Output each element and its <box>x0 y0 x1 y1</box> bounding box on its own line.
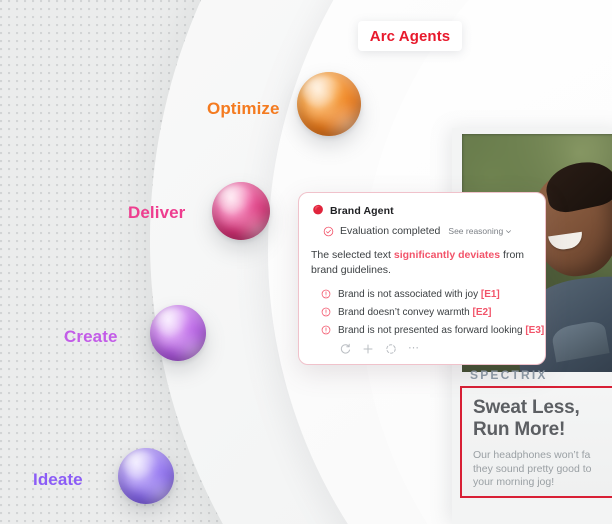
chevron-down-icon <box>505 228 512 235</box>
ad-body-line-2: they sound pretty good to <box>473 463 612 476</box>
warning-circle-icon <box>321 289 331 299</box>
more-options-icon[interactable]: ⋯ <box>408 343 420 354</box>
stage-label-create: Create <box>64 327 118 347</box>
card-header: Brand Agent <box>311 204 533 217</box>
issue-list: Brand is not associated with joy [E1] Br… <box>311 289 533 336</box>
ad-headline-line-1: Sweat Less, <box>473 397 612 419</box>
evaluation-status-text: Evaluation completed <box>340 225 440 237</box>
stage-orb-ideate[interactable] <box>118 448 174 504</box>
card-action-bar: ⋯ <box>339 343 533 355</box>
issue-text: Brand is not presented as forward lookin… <box>338 325 544 336</box>
stage-label-deliver: Deliver <box>128 203 185 223</box>
issue-label: Brand is not presented as forward lookin… <box>338 325 523 336</box>
orb-rim <box>212 182 270 240</box>
desc-highlight: significantly deviates <box>394 249 500 261</box>
see-reasoning-label: See reasoning <box>448 226 503 236</box>
orb-rim <box>118 448 174 504</box>
refresh-icon[interactable] <box>339 343 351 355</box>
ad-creative-box: Sweat Less, Run More! Our headphones won… <box>460 386 612 498</box>
orb-rim <box>297 72 361 136</box>
ad-headline-line-2: Run More! <box>473 419 612 441</box>
issue-row[interactable]: Brand is not presented as forward lookin… <box>321 325 533 336</box>
plus-icon[interactable] <box>362 343 374 355</box>
card-title: Brand Agent <box>330 205 394 217</box>
check-circle-icon <box>323 226 334 237</box>
arc-agents-button[interactable]: Arc Agents <box>358 21 462 51</box>
issue-text: Brand doesn’t convey warmth [E2] <box>338 307 491 318</box>
ad-body-line-1: Our headphones won’t fa <box>473 449 612 462</box>
regenerate-icon[interactable] <box>385 343 397 355</box>
issue-code: [E1] <box>481 289 500 300</box>
issue-code: [E3] <box>525 325 544 336</box>
desc-prefix: The selected text <box>311 249 394 261</box>
evaluation-description: The selected text significantly deviates… <box>311 248 533 278</box>
issue-label: Brand doesn’t convey warmth <box>338 307 470 318</box>
stage-orb-deliver[interactable] <box>212 182 270 240</box>
issue-text: Brand is not associated with joy [E1] <box>338 289 500 300</box>
ad-body-line-3: your morning jog! <box>473 476 612 489</box>
brand-agent-card: Brand Agent Evaluation completed See rea… <box>298 192 546 365</box>
see-reasoning-toggle[interactable]: See reasoning <box>448 226 512 236</box>
stage-orb-create[interactable] <box>150 305 206 361</box>
issue-code: [E2] <box>473 307 492 318</box>
brand-wordmark: SPECTRIX <box>470 368 548 382</box>
orb-rim <box>150 305 206 361</box>
evaluation-status-row: Evaluation completed See reasoning <box>323 225 533 237</box>
stage-label-optimize: Optimize <box>207 99 280 119</box>
warning-circle-icon <box>321 307 331 317</box>
stage-orb-optimize[interactable] <box>297 72 361 136</box>
brand-blob-icon <box>311 204 324 217</box>
issue-row[interactable]: Brand is not associated with joy [E1] <box>321 289 533 300</box>
issue-label: Brand is not associated with joy <box>338 289 478 300</box>
warning-circle-icon <box>321 325 331 335</box>
issue-row[interactable]: Brand doesn’t convey warmth [E2] <box>321 307 533 318</box>
app-canvas: SPECTRIX Sweat Less, Run More! Our headp… <box>0 0 612 524</box>
stage-label-ideate: Ideate <box>33 470 83 490</box>
